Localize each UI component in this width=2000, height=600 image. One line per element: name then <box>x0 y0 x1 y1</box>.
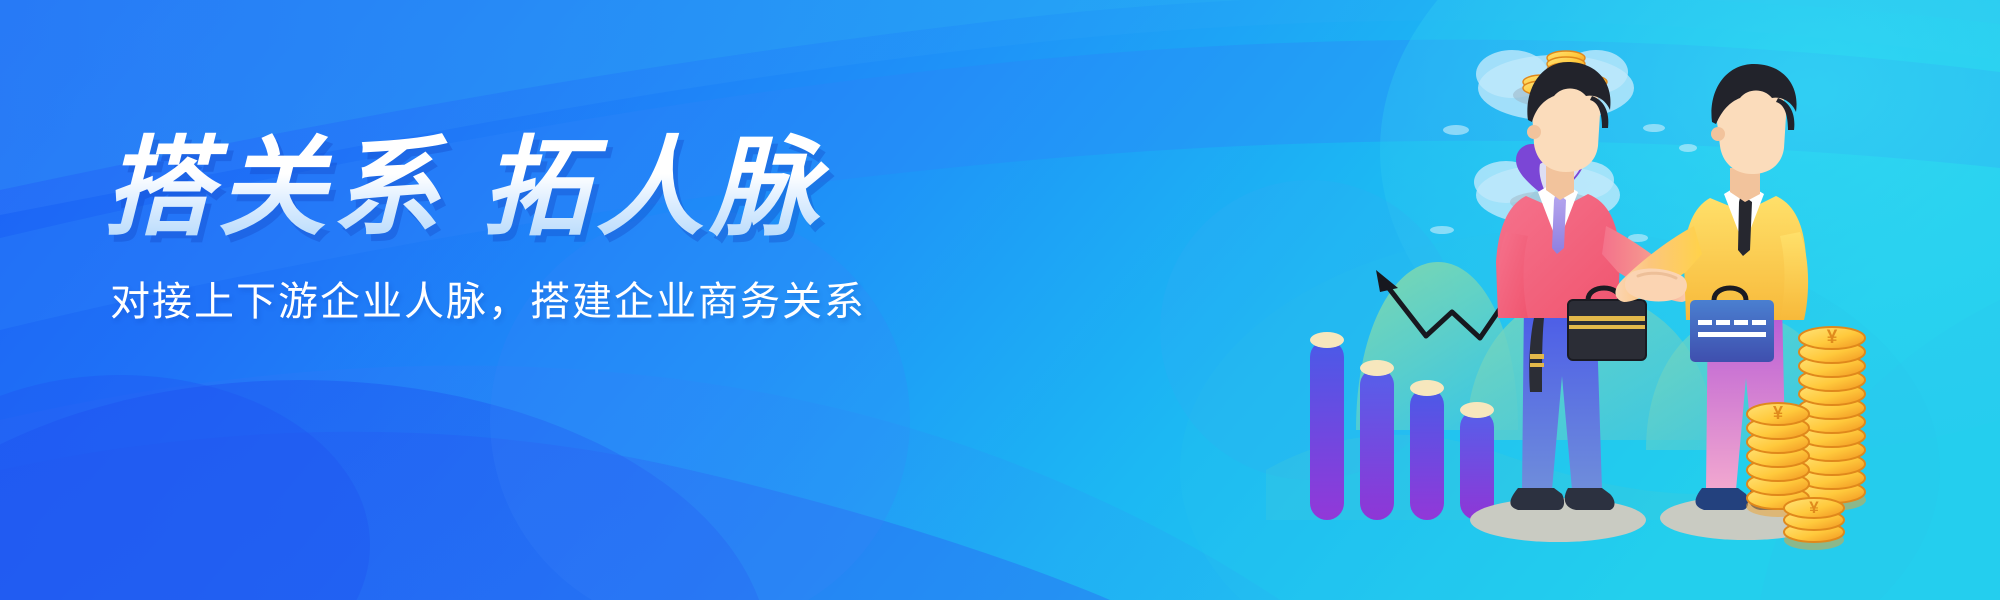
svg-text:¥: ¥ <box>1773 403 1783 423</box>
arrow-head-icon <box>1376 270 1398 292</box>
banner-copy: 搭关系 拓人脉 对接上下游企业人脉，搭建企业商务关系 <box>104 128 964 327</box>
banner-subheadline: 对接上下游企业人脉，搭建企业商务关系 <box>110 277 964 327</box>
banner-headline: 搭关系 拓人脉 <box>104 128 964 249</box>
svg-text:¥: ¥ <box>1827 327 1838 348</box>
svg-text:¥: ¥ <box>1809 498 1819 517</box>
banner-illustration: ¥ ¥ <box>1266 0 1966 600</box>
promo-banner: 搭关系 拓人脉 对接上下游企业人脉，搭建企业商务关系 <box>0 0 2000 600</box>
